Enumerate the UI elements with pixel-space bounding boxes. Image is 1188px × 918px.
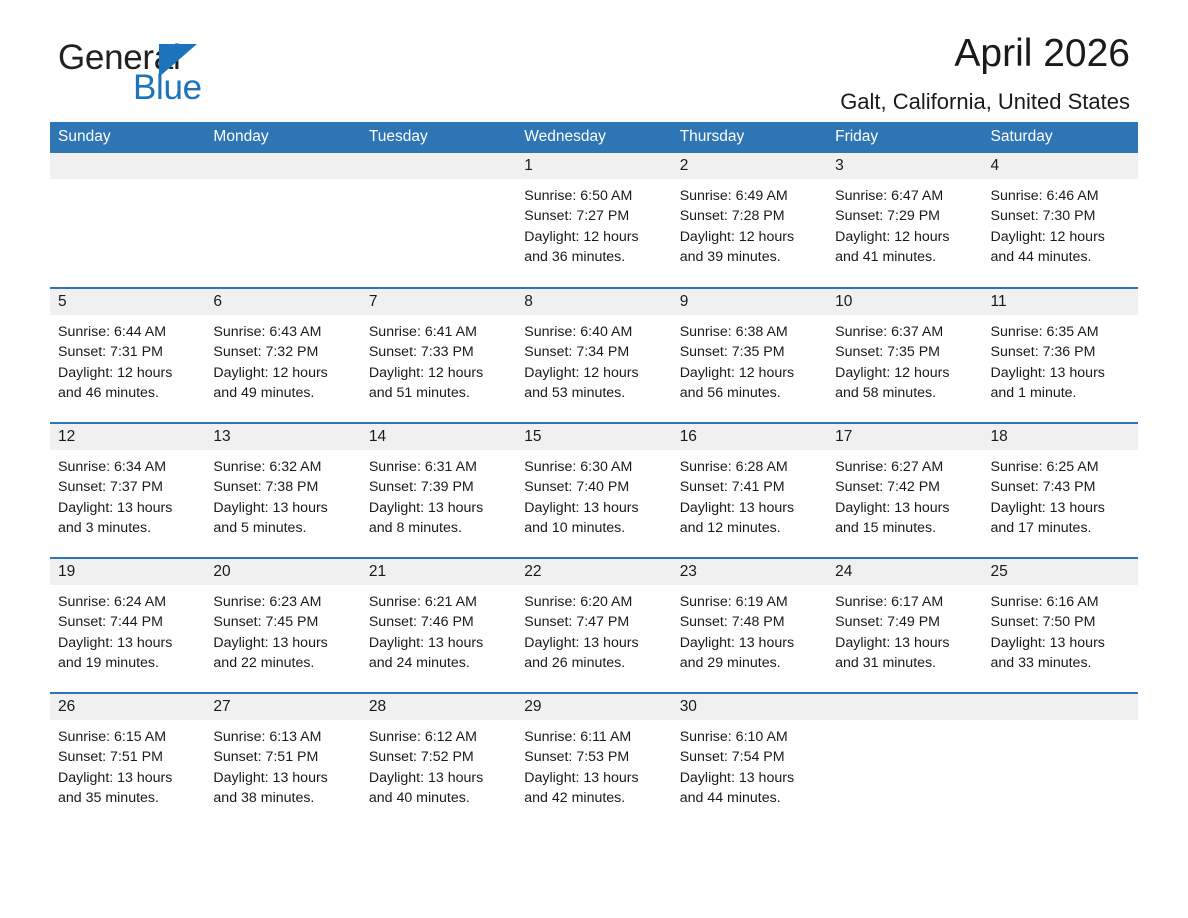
day-details: Sunrise: 6:47 AMSunset: 7:29 PMDaylight:… — [827, 179, 982, 267]
sunrise-time: Sunrise: 6:19 AM — [680, 592, 819, 612]
daylight-duration-line2: and 39 minutes. — [680, 247, 819, 267]
sunset-time: Sunset: 7:31 PM — [58, 342, 197, 362]
day-details: Sunrise: 6:49 AMSunset: 7:28 PMDaylight:… — [672, 179, 827, 267]
day-number — [983, 694, 1138, 720]
sunset-time: Sunset: 7:48 PM — [680, 612, 819, 632]
day-number: 25 — [983, 559, 1138, 585]
sunset-time: Sunset: 7:35 PM — [835, 342, 974, 362]
calendar-day-cell[interactable]: 27Sunrise: 6:13 AMSunset: 7:51 PMDayligh… — [205, 693, 360, 828]
sunrise-time: Sunrise: 6:27 AM — [835, 457, 974, 477]
calendar-day-cell[interactable]: 1Sunrise: 6:50 AMSunset: 7:27 PMDaylight… — [516, 153, 671, 288]
calendar-body: 1Sunrise: 6:50 AMSunset: 7:27 PMDaylight… — [50, 153, 1138, 828]
daylight-duration-line2: and 44 minutes. — [680, 788, 819, 808]
sunset-time: Sunset: 7:39 PM — [369, 477, 508, 497]
daylight-duration-line1: Daylight: 13 hours — [213, 633, 352, 653]
daylight-duration-line1: Daylight: 13 hours — [835, 498, 974, 518]
daylight-duration-line2: and 17 minutes. — [991, 518, 1130, 538]
sunrise-time: Sunrise: 6:23 AM — [213, 592, 352, 612]
day-details: Sunrise: 6:16 AMSunset: 7:50 PMDaylight:… — [983, 585, 1138, 673]
sunrise-time: Sunrise: 6:47 AM — [835, 186, 974, 206]
daylight-duration-line1: Daylight: 13 hours — [524, 768, 663, 788]
calendar-cell-empty — [205, 153, 360, 288]
general-blue-logo[interactable]: General Blue — [58, 38, 258, 116]
sunrise-time: Sunrise: 6:34 AM — [58, 457, 197, 477]
day-details: Sunrise: 6:31 AMSunset: 7:39 PMDaylight:… — [361, 450, 516, 538]
calendar-day-cell[interactable]: 25Sunrise: 6:16 AMSunset: 7:50 PMDayligh… — [983, 558, 1138, 693]
sunrise-time: Sunrise: 6:10 AM — [680, 727, 819, 747]
sunset-time: Sunset: 7:45 PM — [213, 612, 352, 632]
day-number: 15 — [516, 424, 671, 450]
calendar-day-cell[interactable]: 11Sunrise: 6:35 AMSunset: 7:36 PMDayligh… — [983, 288, 1138, 423]
day-details: Sunrise: 6:50 AMSunset: 7:27 PMDaylight:… — [516, 179, 671, 267]
sunset-time: Sunset: 7:46 PM — [369, 612, 508, 632]
sunrise-time: Sunrise: 6:43 AM — [213, 322, 352, 342]
calendar-day-cell[interactable]: 17Sunrise: 6:27 AMSunset: 7:42 PMDayligh… — [827, 423, 982, 558]
weekday-header-sunday: Sunday — [50, 122, 205, 153]
day-number: 2 — [672, 153, 827, 179]
sunset-time: Sunset: 7:49 PM — [835, 612, 974, 632]
daylight-duration-line1: Daylight: 12 hours — [524, 363, 663, 383]
location-subtitle: Galt, California, United States — [840, 89, 1130, 115]
day-details: Sunrise: 6:12 AMSunset: 7:52 PMDaylight:… — [361, 720, 516, 808]
daylight-duration-line1: Daylight: 13 hours — [58, 498, 197, 518]
sunrise-time: Sunrise: 6:35 AM — [991, 322, 1130, 342]
daylight-duration-line1: Daylight: 12 hours — [58, 363, 197, 383]
daylight-duration-line1: Daylight: 13 hours — [680, 768, 819, 788]
day-number: 8 — [516, 289, 671, 315]
daylight-duration-line2: and 46 minutes. — [58, 383, 197, 403]
day-number: 27 — [205, 694, 360, 720]
daylight-duration-line2: and 10 minutes. — [524, 518, 663, 538]
calendar-day-cell[interactable]: 15Sunrise: 6:30 AMSunset: 7:40 PMDayligh… — [516, 423, 671, 558]
calendar-day-cell[interactable]: 8Sunrise: 6:40 AMSunset: 7:34 PMDaylight… — [516, 288, 671, 423]
daylight-duration-line1: Daylight: 12 hours — [835, 363, 974, 383]
sunrise-sunset-calendar: Sunday Monday Tuesday Wednesday Thursday… — [50, 122, 1138, 828]
sunset-time: Sunset: 7:33 PM — [369, 342, 508, 362]
day-number: 3 — [827, 153, 982, 179]
daylight-duration-line1: Daylight: 13 hours — [524, 498, 663, 518]
day-number: 22 — [516, 559, 671, 585]
daylight-duration-line1: Daylight: 13 hours — [369, 768, 508, 788]
day-details: Sunrise: 6:25 AMSunset: 7:43 PMDaylight:… — [983, 450, 1138, 538]
calendar-cell-empty — [361, 153, 516, 288]
daylight-duration-line2: and 41 minutes. — [835, 247, 974, 267]
daylight-duration-line2: and 33 minutes. — [991, 653, 1130, 673]
calendar-week-row: 1Sunrise: 6:50 AMSunset: 7:27 PMDaylight… — [50, 153, 1138, 288]
day-details: Sunrise: 6:43 AMSunset: 7:32 PMDaylight:… — [205, 315, 360, 403]
weekday-header-monday: Monday — [205, 122, 360, 153]
sunset-time: Sunset: 7:29 PM — [835, 206, 974, 226]
sunrise-time: Sunrise: 6:41 AM — [369, 322, 508, 342]
daylight-duration-line1: Daylight: 13 hours — [213, 768, 352, 788]
calendar-day-cell[interactable]: 13Sunrise: 6:32 AMSunset: 7:38 PMDayligh… — [205, 423, 360, 558]
day-details: Sunrise: 6:35 AMSunset: 7:36 PMDaylight:… — [983, 315, 1138, 403]
sunrise-time: Sunrise: 6:50 AM — [524, 186, 663, 206]
day-number: 21 — [361, 559, 516, 585]
daylight-duration-line2: and 8 minutes. — [369, 518, 508, 538]
day-number: 16 — [672, 424, 827, 450]
daylight-duration-line2: and 31 minutes. — [835, 653, 974, 673]
sunset-time: Sunset: 7:27 PM — [524, 206, 663, 226]
daylight-duration-line2: and 15 minutes. — [835, 518, 974, 538]
daylight-duration-line1: Daylight: 13 hours — [58, 633, 197, 653]
sunset-time: Sunset: 7:30 PM — [991, 206, 1130, 226]
day-details: Sunrise: 6:46 AMSunset: 7:30 PMDaylight:… — [983, 179, 1138, 267]
daylight-duration-line2: and 40 minutes. — [369, 788, 508, 808]
day-number — [205, 153, 360, 179]
daylight-duration-line1: Daylight: 13 hours — [680, 633, 819, 653]
sunrise-time: Sunrise: 6:21 AM — [369, 592, 508, 612]
day-details: Sunrise: 6:10 AMSunset: 7:54 PMDaylight:… — [672, 720, 827, 808]
day-number: 19 — [50, 559, 205, 585]
sunset-time: Sunset: 7:47 PM — [524, 612, 663, 632]
day-details: Sunrise: 6:34 AMSunset: 7:37 PMDaylight:… — [50, 450, 205, 538]
sunrise-time: Sunrise: 6:16 AM — [991, 592, 1130, 612]
sunset-time: Sunset: 7:51 PM — [213, 747, 352, 767]
daylight-duration-line2: and 51 minutes. — [369, 383, 508, 403]
day-number: 30 — [672, 694, 827, 720]
daylight-duration-line2: and 24 minutes. — [369, 653, 508, 673]
daylight-duration-line1: Daylight: 13 hours — [680, 498, 819, 518]
day-number: 23 — [672, 559, 827, 585]
calendar-cell-empty — [983, 693, 1138, 828]
day-details: Sunrise: 6:40 AMSunset: 7:34 PMDaylight:… — [516, 315, 671, 403]
calendar-day-cell[interactable]: 12Sunrise: 6:34 AMSunset: 7:37 PMDayligh… — [50, 423, 205, 558]
daylight-duration-line2: and 5 minutes. — [213, 518, 352, 538]
sunset-time: Sunset: 7:41 PM — [680, 477, 819, 497]
day-details: Sunrise: 6:17 AMSunset: 7:49 PMDaylight:… — [827, 585, 982, 673]
daylight-duration-line2: and 36 minutes. — [524, 247, 663, 267]
day-details: Sunrise: 6:21 AMSunset: 7:46 PMDaylight:… — [361, 585, 516, 673]
daylight-duration-line1: Daylight: 13 hours — [213, 498, 352, 518]
calendar-week-row: 12Sunrise: 6:34 AMSunset: 7:37 PMDayligh… — [50, 423, 1138, 558]
daylight-duration-line1: Daylight: 13 hours — [369, 633, 508, 653]
daylight-duration-line2: and 12 minutes. — [680, 518, 819, 538]
daylight-duration-line2: and 38 minutes. — [213, 788, 352, 808]
day-number: 29 — [516, 694, 671, 720]
calendar-cell-empty — [50, 153, 205, 288]
sunrise-time: Sunrise: 6:37 AM — [835, 322, 974, 342]
sunset-time: Sunset: 7:52 PM — [369, 747, 508, 767]
calendar-day-cell[interactable]: 24Sunrise: 6:17 AMSunset: 7:49 PMDayligh… — [827, 558, 982, 693]
daylight-duration-line1: Daylight: 12 hours — [524, 227, 663, 247]
sunset-time: Sunset: 7:36 PM — [991, 342, 1130, 362]
sunrise-time: Sunrise: 6:44 AM — [58, 322, 197, 342]
page-header: General Blue April 2026 Galt, California… — [50, 0, 1138, 110]
day-number: 6 — [205, 289, 360, 315]
sunrise-time: Sunrise: 6:28 AM — [680, 457, 819, 477]
daylight-duration-line2: and 35 minutes. — [58, 788, 197, 808]
day-details: Sunrise: 6:20 AMSunset: 7:47 PMDaylight:… — [516, 585, 671, 673]
daylight-duration-line2: and 26 minutes. — [524, 653, 663, 673]
calendar-day-cell[interactable]: 9Sunrise: 6:38 AMSunset: 7:35 PMDaylight… — [672, 288, 827, 423]
daylight-duration-line1: Daylight: 13 hours — [369, 498, 508, 518]
day-number: 9 — [672, 289, 827, 315]
day-number: 26 — [50, 694, 205, 720]
daylight-duration-line1: Daylight: 13 hours — [524, 633, 663, 653]
calendar-day-cell[interactable]: 5Sunrise: 6:44 AMSunset: 7:31 PMDaylight… — [50, 288, 205, 423]
day-number: 13 — [205, 424, 360, 450]
sunrise-time: Sunrise: 6:31 AM — [369, 457, 508, 477]
day-details: Sunrise: 6:38 AMSunset: 7:35 PMDaylight:… — [672, 315, 827, 403]
sunset-time: Sunset: 7:53 PM — [524, 747, 663, 767]
day-details: Sunrise: 6:23 AMSunset: 7:45 PMDaylight:… — [205, 585, 360, 673]
daylight-duration-line1: Daylight: 12 hours — [680, 363, 819, 383]
calendar-day-cell[interactable]: 29Sunrise: 6:11 AMSunset: 7:53 PMDayligh… — [516, 693, 671, 828]
sunrise-time: Sunrise: 6:40 AM — [524, 322, 663, 342]
sunset-time: Sunset: 7:50 PM — [991, 612, 1130, 632]
sunrise-time: Sunrise: 6:17 AM — [835, 592, 974, 612]
calendar-day-cell[interactable]: 26Sunrise: 6:15 AMSunset: 7:51 PMDayligh… — [50, 693, 205, 828]
sunset-time: Sunset: 7:51 PM — [58, 747, 197, 767]
daylight-duration-line1: Daylight: 12 hours — [991, 227, 1130, 247]
calendar-day-cell[interactable]: 10Sunrise: 6:37 AMSunset: 7:35 PMDayligh… — [827, 288, 982, 423]
sunrise-time: Sunrise: 6:11 AM — [524, 727, 663, 747]
day-number: 4 — [983, 153, 1138, 179]
calendar-day-cell[interactable]: 16Sunrise: 6:28 AMSunset: 7:41 PMDayligh… — [672, 423, 827, 558]
calendar-day-cell[interactable]: 22Sunrise: 6:20 AMSunset: 7:47 PMDayligh… — [516, 558, 671, 693]
day-number: 12 — [50, 424, 205, 450]
daylight-duration-line1: Daylight: 13 hours — [991, 498, 1130, 518]
sunrise-time: Sunrise: 6:38 AM — [680, 322, 819, 342]
calendar-day-cell[interactable]: 4Sunrise: 6:46 AMSunset: 7:30 PMDaylight… — [983, 153, 1138, 288]
daylight-duration-line2: and 58 minutes. — [835, 383, 974, 403]
day-number: 10 — [827, 289, 982, 315]
calendar-week-row: 19Sunrise: 6:24 AMSunset: 7:44 PMDayligh… — [50, 558, 1138, 693]
daylight-duration-line2: and 3 minutes. — [58, 518, 197, 538]
calendar-day-cell[interactable]: 18Sunrise: 6:25 AMSunset: 7:43 PMDayligh… — [983, 423, 1138, 558]
sunset-time: Sunset: 7:44 PM — [58, 612, 197, 632]
sunset-time: Sunset: 7:32 PM — [213, 342, 352, 362]
day-details: Sunrise: 6:24 AMSunset: 7:44 PMDaylight:… — [50, 585, 205, 673]
day-details: Sunrise: 6:32 AMSunset: 7:38 PMDaylight:… — [205, 450, 360, 538]
sunset-time: Sunset: 7:42 PM — [835, 477, 974, 497]
sunrise-time: Sunrise: 6:13 AM — [213, 727, 352, 747]
calendar-day-cell[interactable]: 28Sunrise: 6:12 AMSunset: 7:52 PMDayligh… — [361, 693, 516, 828]
weekday-header-row: Sunday Monday Tuesday Wednesday Thursday… — [50, 122, 1138, 153]
weekday-header-thursday: Thursday — [672, 122, 827, 153]
sunset-time: Sunset: 7:34 PM — [524, 342, 663, 362]
day-number: 1 — [516, 153, 671, 179]
calendar-day-cell[interactable]: 23Sunrise: 6:19 AMSunset: 7:48 PMDayligh… — [672, 558, 827, 693]
sunset-time: Sunset: 7:35 PM — [680, 342, 819, 362]
day-number: 28 — [361, 694, 516, 720]
sunrise-time: Sunrise: 6:15 AM — [58, 727, 197, 747]
daylight-duration-line2: and 1 minute. — [991, 383, 1130, 403]
daylight-duration-line1: Daylight: 12 hours — [369, 363, 508, 383]
sunrise-time: Sunrise: 6:20 AM — [524, 592, 663, 612]
day-number: 24 — [827, 559, 982, 585]
sunset-time: Sunset: 7:28 PM — [680, 206, 819, 226]
daylight-duration-line2: and 29 minutes. — [680, 653, 819, 673]
day-number — [50, 153, 205, 179]
day-number: 5 — [50, 289, 205, 315]
day-number: 11 — [983, 289, 1138, 315]
sunrise-time: Sunrise: 6:25 AM — [991, 457, 1130, 477]
daylight-duration-line2: and 56 minutes. — [680, 383, 819, 403]
daylight-duration-line1: Daylight: 12 hours — [835, 227, 974, 247]
day-number: 7 — [361, 289, 516, 315]
sunset-time: Sunset: 7:43 PM — [991, 477, 1130, 497]
calendar-day-cell[interactable]: 19Sunrise: 6:24 AMSunset: 7:44 PMDayligh… — [50, 558, 205, 693]
page-title: April 2026 — [840, 34, 1130, 75]
weekday-header-saturday: Saturday — [983, 122, 1138, 153]
day-details: Sunrise: 6:30 AMSunset: 7:40 PMDaylight:… — [516, 450, 671, 538]
calendar-day-cell[interactable]: 21Sunrise: 6:21 AMSunset: 7:46 PMDayligh… — [361, 558, 516, 693]
title-block: April 2026 Galt, California, United Stat… — [840, 34, 1130, 115]
sunset-time: Sunset: 7:37 PM — [58, 477, 197, 497]
day-details: Sunrise: 6:13 AMSunset: 7:51 PMDaylight:… — [205, 720, 360, 808]
sunset-time: Sunset: 7:38 PM — [213, 477, 352, 497]
day-number — [361, 153, 516, 179]
sunrise-time: Sunrise: 6:32 AM — [213, 457, 352, 477]
daylight-duration-line1: Daylight: 12 hours — [680, 227, 819, 247]
weekday-header-tuesday: Tuesday — [361, 122, 516, 153]
logo-text-blue: Blue — [133, 68, 202, 108]
day-details: Sunrise: 6:37 AMSunset: 7:35 PMDaylight:… — [827, 315, 982, 403]
day-number: 14 — [361, 424, 516, 450]
sunrise-time: Sunrise: 6:46 AM — [991, 186, 1130, 206]
day-number: 18 — [983, 424, 1138, 450]
day-details: Sunrise: 6:41 AMSunset: 7:33 PMDaylight:… — [361, 315, 516, 403]
sunrise-time: Sunrise: 6:12 AM — [369, 727, 508, 747]
daylight-duration-line2: and 49 minutes. — [213, 383, 352, 403]
daylight-duration-line2: and 42 minutes. — [524, 788, 663, 808]
weekday-header-friday: Friday — [827, 122, 982, 153]
daylight-duration-line2: and 44 minutes. — [991, 247, 1130, 267]
calendar-week-row: 26Sunrise: 6:15 AMSunset: 7:51 PMDayligh… — [50, 693, 1138, 828]
day-details: Sunrise: 6:44 AMSunset: 7:31 PMDaylight:… — [50, 315, 205, 403]
sunset-time: Sunset: 7:54 PM — [680, 747, 819, 767]
day-details: Sunrise: 6:27 AMSunset: 7:42 PMDaylight:… — [827, 450, 982, 538]
calendar-week-row: 5Sunrise: 6:44 AMSunset: 7:31 PMDaylight… — [50, 288, 1138, 423]
daylight-duration-line2: and 53 minutes. — [524, 383, 663, 403]
daylight-duration-line1: Daylight: 13 hours — [835, 633, 974, 653]
calendar-cell-empty — [827, 693, 982, 828]
sunrise-time: Sunrise: 6:49 AM — [680, 186, 819, 206]
sunrise-time: Sunrise: 6:24 AM — [58, 592, 197, 612]
day-details: Sunrise: 6:28 AMSunset: 7:41 PMDaylight:… — [672, 450, 827, 538]
daylight-duration-line1: Daylight: 13 hours — [991, 633, 1130, 653]
calendar-day-cell[interactable]: 3Sunrise: 6:47 AMSunset: 7:29 PMDaylight… — [827, 153, 982, 288]
sunrise-time: Sunrise: 6:30 AM — [524, 457, 663, 477]
day-details: Sunrise: 6:11 AMSunset: 7:53 PMDaylight:… — [516, 720, 671, 808]
daylight-duration-line1: Daylight: 13 hours — [58, 768, 197, 788]
calendar-day-cell[interactable]: 2Sunrise: 6:49 AMSunset: 7:28 PMDaylight… — [672, 153, 827, 288]
daylight-duration-line2: and 19 minutes. — [58, 653, 197, 673]
calendar-day-cell[interactable]: 6Sunrise: 6:43 AMSunset: 7:32 PMDaylight… — [205, 288, 360, 423]
day-number: 20 — [205, 559, 360, 585]
day-details: Sunrise: 6:15 AMSunset: 7:51 PMDaylight:… — [50, 720, 205, 808]
calendar-day-cell[interactable]: 7Sunrise: 6:41 AMSunset: 7:33 PMDaylight… — [361, 288, 516, 423]
day-number: 17 — [827, 424, 982, 450]
calendar-page: General Blue April 2026 Galt, California… — [0, 0, 1188, 918]
calendar-day-cell[interactable]: 30Sunrise: 6:10 AMSunset: 7:54 PMDayligh… — [672, 693, 827, 828]
calendar-day-cell[interactable]: 14Sunrise: 6:31 AMSunset: 7:39 PMDayligh… — [361, 423, 516, 558]
daylight-duration-line1: Daylight: 12 hours — [213, 363, 352, 383]
daylight-duration-line2: and 22 minutes. — [213, 653, 352, 673]
weekday-header-wednesday: Wednesday — [516, 122, 671, 153]
sunset-time: Sunset: 7:40 PM — [524, 477, 663, 497]
day-number — [827, 694, 982, 720]
day-details: Sunrise: 6:19 AMSunset: 7:48 PMDaylight:… — [672, 585, 827, 673]
calendar-day-cell[interactable]: 20Sunrise: 6:23 AMSunset: 7:45 PMDayligh… — [205, 558, 360, 693]
daylight-duration-line1: Daylight: 13 hours — [991, 363, 1130, 383]
